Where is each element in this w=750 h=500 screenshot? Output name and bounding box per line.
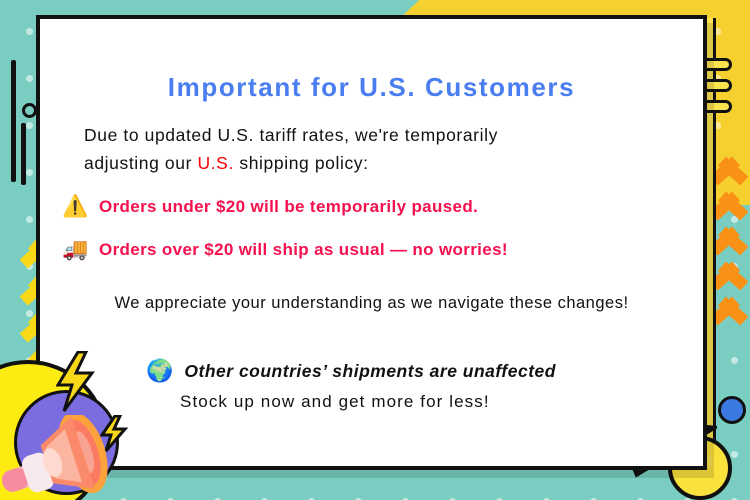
intro-paragraph: Due to updated U.S. tariff rates, we're … xyxy=(84,121,664,178)
card-content: Important for U.S. Customers Due to upda… xyxy=(36,15,707,470)
policy-bullet-paused: ⚠️ Orders under $20 will be temporarily … xyxy=(62,196,478,217)
delivery-truck-icon: 🚚 xyxy=(62,239,88,260)
policy-bullet-shipping: 🚚 Orders over $20 will ship as usual — n… xyxy=(62,239,508,260)
intro-line-2-post: shipping policy: xyxy=(234,153,369,173)
warning-icon: ⚠️ xyxy=(62,196,88,217)
footer-headline-row: 🌍 Other countries’ shipments are unaffec… xyxy=(146,360,556,382)
page-title: Important for U.S. Customers xyxy=(36,72,707,103)
promo-banner: Important for U.S. Customers Due to upda… xyxy=(0,0,750,500)
decorative-ring-icon xyxy=(22,103,37,118)
policy-bullet-shipping-label: Orders over $20 will ship as usual — no … xyxy=(99,240,508,260)
intro-highlight: U.S. xyxy=(197,153,233,173)
footer-subline: Stock up now and get more for less! xyxy=(180,392,490,412)
footer-headline: Other countries’ shipments are unaffecte… xyxy=(184,361,556,382)
decorative-bar-left-short xyxy=(21,123,26,185)
globe-pin-icon: 🌍 xyxy=(146,360,173,382)
policy-bullet-paused-label: Orders under $20 will be temporarily pau… xyxy=(99,197,478,217)
appreciation-text: We appreciate your understanding as we n… xyxy=(36,294,707,313)
decorative-bar-left-tall xyxy=(11,60,16,182)
intro-line-1: Due to updated U.S. tariff rates, we're … xyxy=(84,125,498,145)
blue-circle-shape xyxy=(718,396,746,424)
intro-line-2-pre: adjusting our xyxy=(84,153,197,173)
